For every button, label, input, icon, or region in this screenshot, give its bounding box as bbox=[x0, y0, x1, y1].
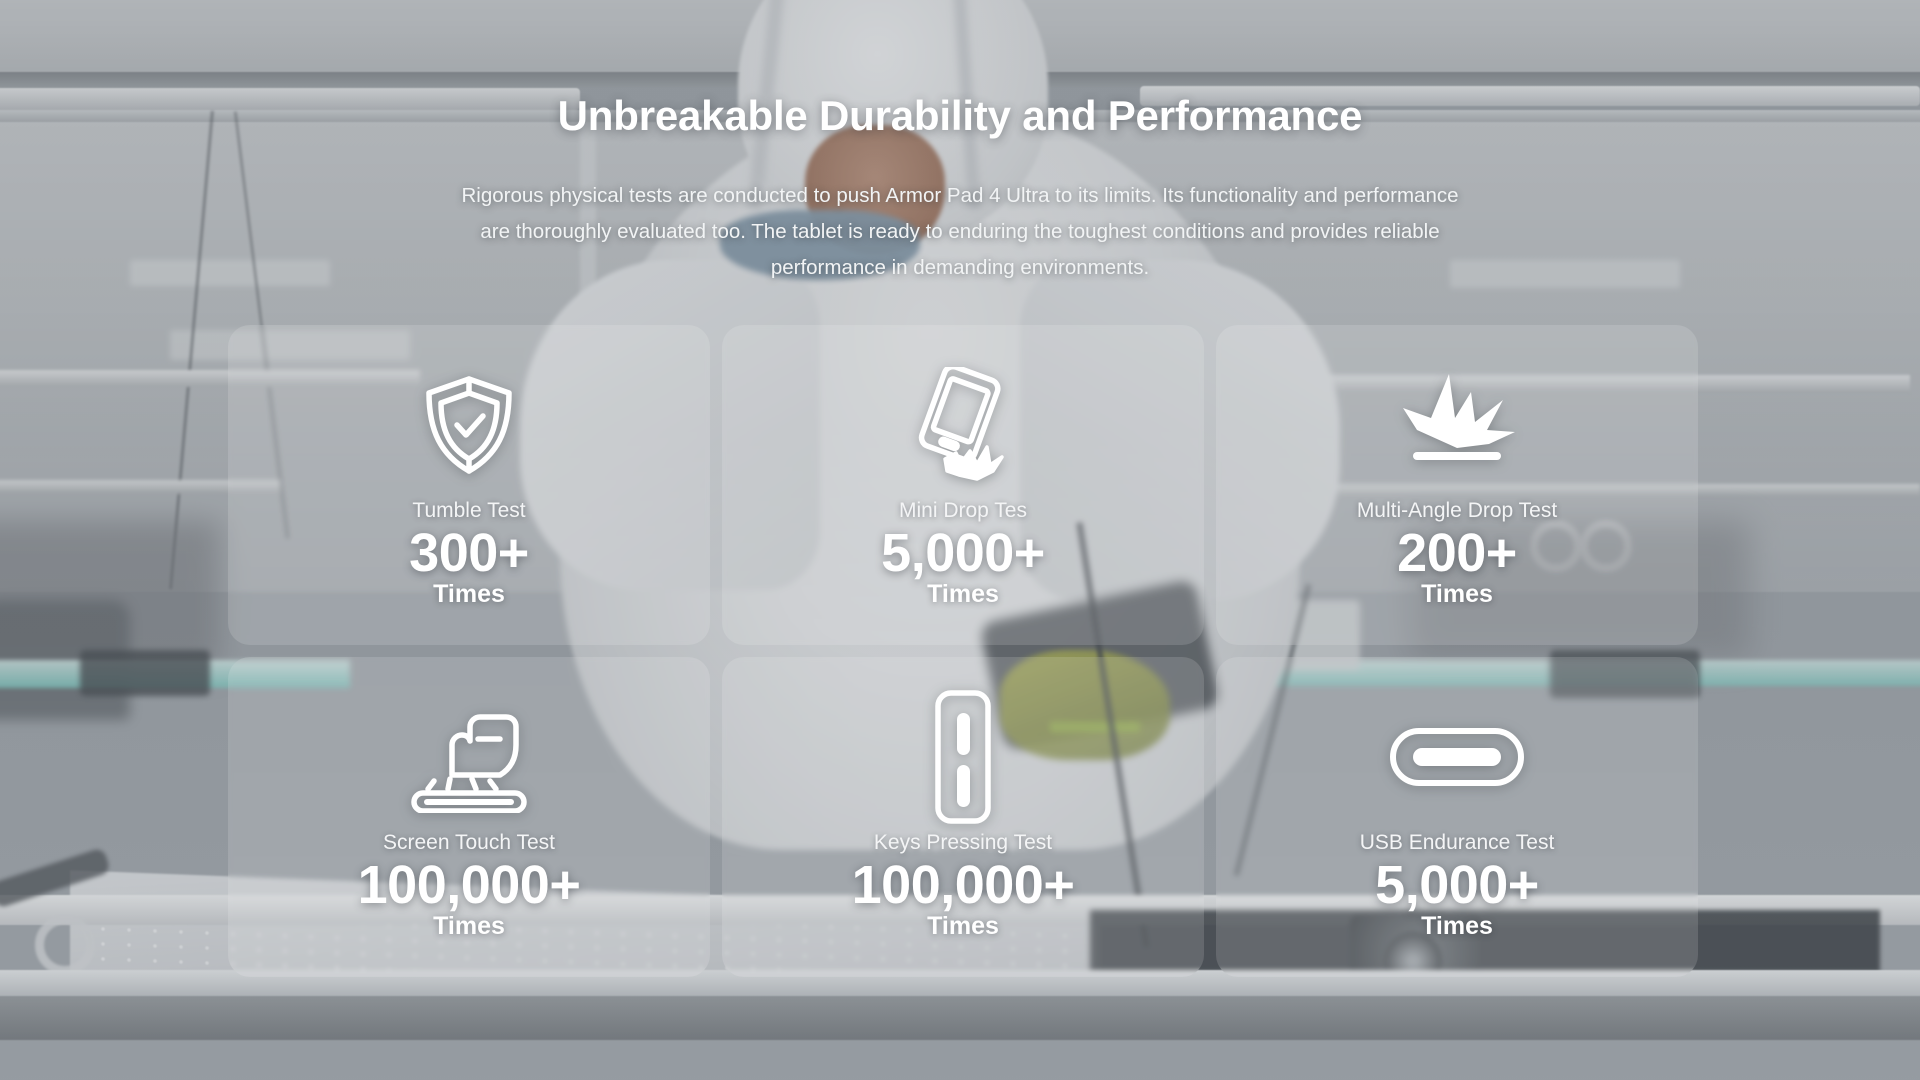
stat-card-value: 5,000+ bbox=[1375, 857, 1539, 914]
stat-card-label: USB Endurance Test bbox=[1360, 831, 1555, 855]
usb-c-port-icon bbox=[1389, 689, 1525, 825]
stat-card-unit: Times bbox=[1421, 912, 1493, 941]
multi-angle-impact-burst-icon bbox=[1397, 357, 1517, 493]
side-keys-icon bbox=[932, 689, 994, 825]
stat-card-unit: Times bbox=[433, 580, 505, 609]
stat-card-label: Multi-Angle Drop Test bbox=[1357, 499, 1557, 523]
stat-card-unit: Times bbox=[927, 580, 999, 609]
stat-card-value: 5,000+ bbox=[881, 525, 1045, 582]
page-title: Unbreakable Durability and Performance bbox=[0, 92, 1920, 140]
stat-card-value: 100,000+ bbox=[852, 857, 1075, 914]
stat-card-label: Keys Pressing Test bbox=[874, 831, 1052, 855]
stat-card-value: 100,000+ bbox=[358, 857, 581, 914]
stat-card-value: 300+ bbox=[409, 525, 529, 582]
promo-banner: Unbreakable Durability and Performance R… bbox=[0, 0, 1920, 1080]
stat-card-unit: Times bbox=[927, 912, 999, 941]
tablet-drop-impact-icon bbox=[907, 357, 1019, 493]
stat-card-screen-touch-test: Screen Touch Test 100,000+ Times bbox=[228, 657, 710, 977]
stat-card-unit: Times bbox=[433, 912, 505, 941]
page-description: Rigorous physical tests are conducted to… bbox=[445, 178, 1475, 286]
test-stats-grid: Tumble Test 300+ Times bbox=[228, 325, 1698, 977]
stat-card-unit: Times bbox=[1421, 580, 1493, 609]
stat-card-label: Mini Drop Tes bbox=[899, 499, 1027, 523]
stat-card-label: Screen Touch Test bbox=[383, 831, 555, 855]
finger-tap-screen-icon bbox=[406, 689, 532, 825]
stat-card-usb-endurance-test: USB Endurance Test 5,000+ Times bbox=[1216, 657, 1698, 977]
stat-card-multi-angle-drop-test: Multi-Angle Drop Test 200+ Times bbox=[1216, 325, 1698, 645]
stat-card-mini-drop-test: Mini Drop Tes 5,000+ Times bbox=[722, 325, 1204, 645]
stat-card-tumble-test: Tumble Test 300+ Times bbox=[228, 325, 710, 645]
shield-check-icon bbox=[421, 357, 517, 493]
stat-card-label: Tumble Test bbox=[412, 499, 525, 523]
stat-card-keys-pressing-test: Keys Pressing Test 100,000+ Times bbox=[722, 657, 1204, 977]
stat-card-value: 200+ bbox=[1397, 525, 1517, 582]
